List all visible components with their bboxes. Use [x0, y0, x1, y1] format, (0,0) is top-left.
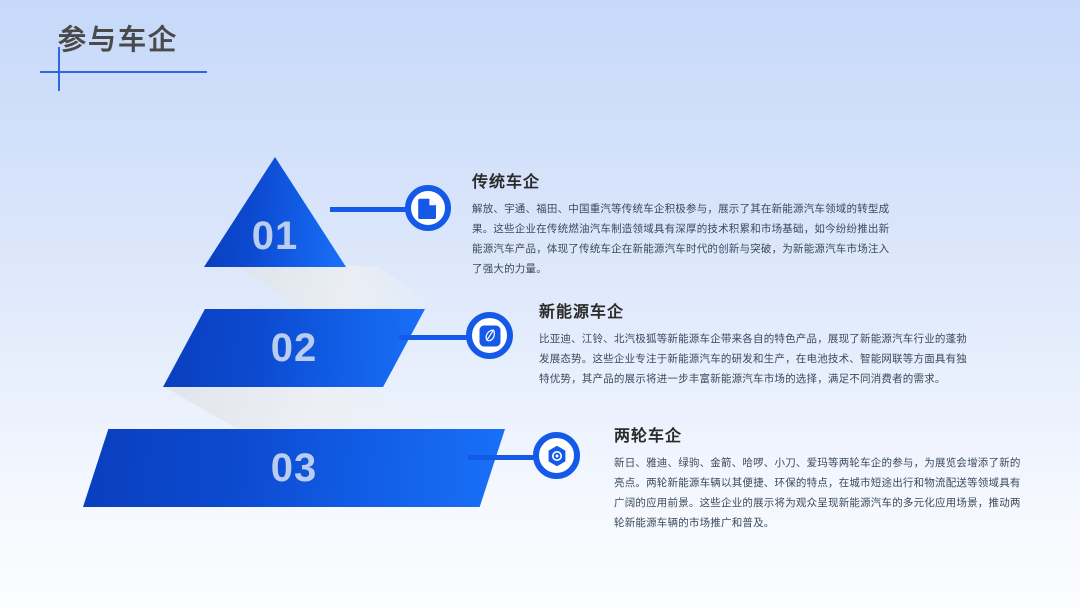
pyramid-level-1-number: 01	[204, 157, 346, 267]
pyramid-level-3-number: 03	[83, 429, 505, 507]
pyramid-level-1[interactable]: 01	[204, 157, 346, 267]
pyramid-shadow-band-1	[237, 266, 442, 308]
connector-line-1	[330, 207, 416, 212]
icon-bubble-3[interactable]	[533, 432, 580, 479]
pyramid-level-2-number: 02	[163, 309, 425, 387]
leaf-icon	[479, 325, 501, 347]
content-heading-1: 传统车企	[472, 168, 892, 192]
content-block-1: 传统车企 解放、宇通、福田、中国重汽等传统车企积极参与，展示了其在新能源汽车领域…	[472, 168, 892, 280]
hex-nut-icon	[546, 445, 568, 467]
document-icon	[418, 197, 438, 219]
pyramid-level-3[interactable]: 03	[83, 429, 505, 507]
content-body-3: 新日、雅迪、绿驹、金箭、哈啰、小刀、爱玛等两轮车企的参与，为展览会增添了新的亮点…	[614, 453, 1024, 534]
pyramid-diagram: 01 02 03	[0, 0, 620, 607]
icon-bubble-1[interactable]	[405, 185, 451, 231]
pyramid-level-2[interactable]: 02	[163, 309, 425, 387]
pyramid-shadow-band-2	[163, 386, 443, 428]
content-heading-3: 两轮车企	[614, 422, 1024, 446]
content-body-2: 比亚迪、江铃、北汽极狐等新能源车企带来各自的特色产品，展现了新能源汽车行业的蓬勃…	[539, 329, 971, 389]
content-block-3: 两轮车企 新日、雅迪、绿驹、金箭、哈啰、小刀、爱玛等两轮车企的参与，为展览会增添…	[614, 422, 1024, 534]
content-block-2: 新能源车企 比亚迪、江铃、北汽极狐等新能源车企带来各自的特色产品，展现了新能源汽…	[539, 298, 971, 389]
content-heading-2: 新能源车企	[539, 298, 971, 322]
icon-bubble-2[interactable]	[466, 312, 513, 359]
content-body-1: 解放、宇通、福田、中国重汽等传统车企积极参与，展示了其在新能源汽车领域的转型成果…	[472, 199, 892, 280]
